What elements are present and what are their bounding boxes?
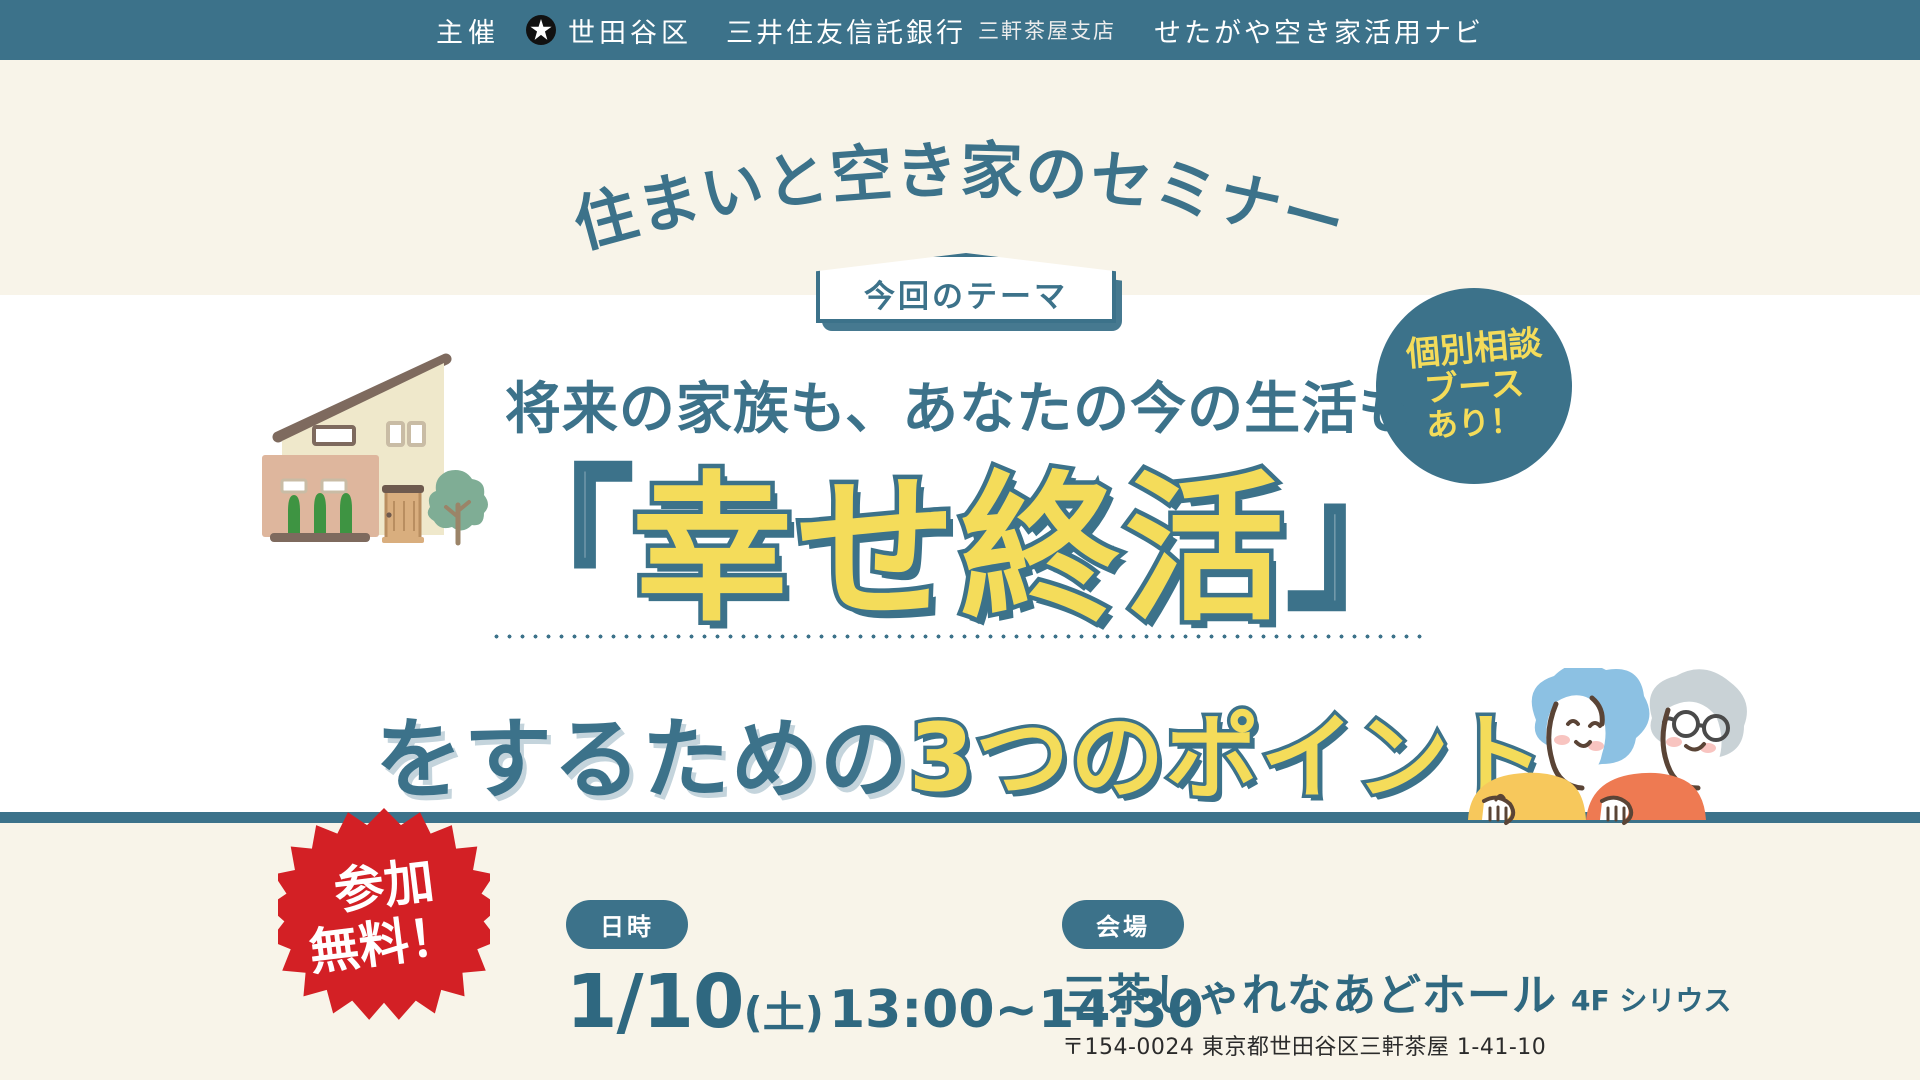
sponsor-header-bar: 主催 世田谷区 三井住友信託銀行 三軒茶屋支店 せたがや空き家活用ナビ — [0, 0, 1920, 60]
elderly-couple-illustration — [1440, 668, 1770, 828]
venue-address: 〒154-0024 東京都世田谷区三軒茶屋 1-41-10 — [1062, 1029, 1731, 1061]
hero-headline: 「幸せ終活」 — [0, 420, 1920, 652]
date-day-of-week: (土) — [744, 988, 824, 1037]
date-label-pill: 日時 — [566, 900, 688, 949]
headline2-prefix: をするための — [375, 708, 909, 811]
sponsor-label: 主催 — [436, 11, 500, 50]
sponsor-navi-name: せたがや空き家活用ナビ — [1154, 11, 1484, 50]
free-badge-line1: 参加 — [331, 853, 437, 919]
theme-banner: 今回のテーマ — [816, 253, 1116, 325]
sponsor-ward-name: 世田谷区 — [568, 11, 692, 50]
sponsor-bank-branch: 三軒茶屋支店 — [978, 15, 1116, 45]
headline-open-bracket: 「 — [482, 455, 632, 629]
venue-info-block: 会場 三茶しゃれなあどホール4F シリウス 〒154-0024 東京都世田谷区三… — [1062, 900, 1731, 1061]
seminar-arch-title: 住まいと空き家のセミナー — [0, 112, 1920, 252]
headline-main-text: 幸せ終活 — [632, 456, 1288, 643]
venue-label-pill: 会場 — [1062, 900, 1184, 949]
theme-banner-face: 今回のテーマ — [816, 253, 1116, 323]
dotted-divider — [490, 634, 1430, 639]
headline-close-bracket: 」 — [1288, 455, 1438, 629]
venue-name-line: 三茶しゃれなあどホール4F シリウス — [1062, 959, 1731, 1023]
sponsor-bank-name: 三井住友信託銀行 — [726, 11, 966, 50]
arch-title-text: 住まいと空き家のセミナー — [566, 134, 1354, 252]
date-value: 1/10 — [566, 959, 744, 1045]
venue-name: 三茶しゃれなあどホール — [1062, 970, 1557, 1021]
venue-floor: 4F シリウス — [1571, 984, 1731, 1017]
setagaya-ward-logo-icon — [526, 15, 556, 45]
theme-banner-label: 今回のテーマ — [864, 271, 1068, 316]
free-badge-line2: 無料！ — [306, 908, 461, 980]
